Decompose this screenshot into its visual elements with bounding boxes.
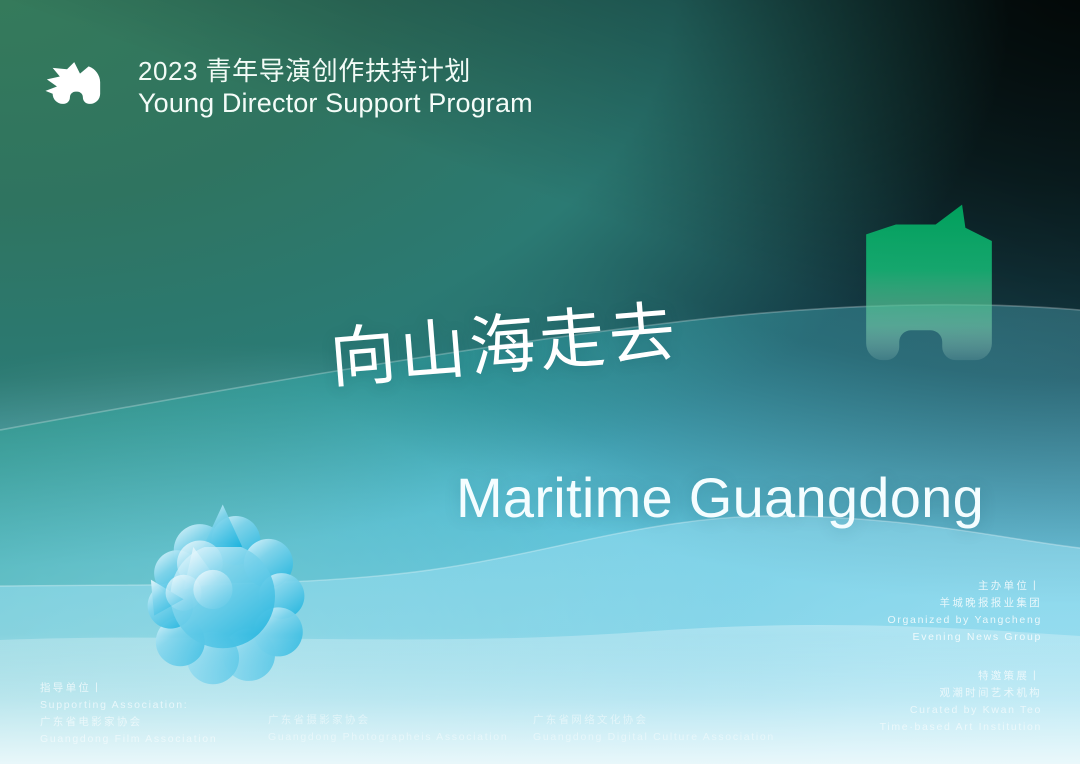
credit-organizer-name-cn: 羊城晚报报业集团	[888, 595, 1043, 612]
credit-organizer-label: 主办单位丨	[888, 578, 1043, 595]
program-logo-icon	[44, 52, 116, 124]
bottom-fade	[0, 634, 1080, 764]
poster-canvas: 2023 青年导演创作扶持计划 Young Director Support P…	[0, 0, 1080, 764]
decor-blob-green-icon	[846, 198, 1012, 370]
header-title-cn: 2023 青年导演创作扶持计划	[138, 56, 533, 87]
credit-organizer-name-en-1: Organized by Yangcheng	[888, 612, 1043, 629]
main-title-en: Maritime Guangdong	[456, 470, 984, 526]
brand-header: 2023 青年导演创作扶持计划 Young Director Support P…	[44, 52, 533, 124]
header-title-en: Young Director Support Program	[138, 88, 533, 120]
